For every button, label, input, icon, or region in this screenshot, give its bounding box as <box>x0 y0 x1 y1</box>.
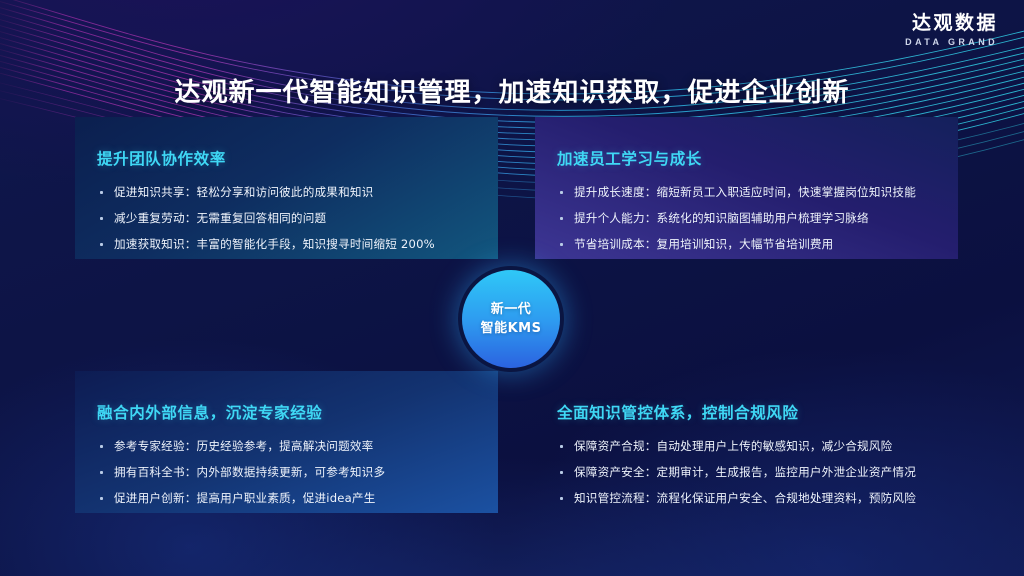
list-item: 加速获取知识：丰富的智能化手段，知识搜寻时间缩短 200% <box>97 237 480 252</box>
center-badge-line1: 新一代 <box>491 300 532 319</box>
card-title: 加速员工学习与成长 <box>557 147 940 169</box>
list-item: 提升个人能力：系统化的知识脑图辅助用户梳理学习脉络 <box>557 211 940 226</box>
list-item: 节省培训成本：复用培训知识，大幅节省培训费用 <box>557 237 940 252</box>
center-badge-line2: 智能KMS <box>481 319 542 338</box>
card-bullet-list: 提升成长速度：缩短新员工入职适应时间，快速掌握岗位知识技能 提升个人能力：系统化… <box>557 185 940 252</box>
card-bullet-list: 促进知识共享：轻松分享和访问彼此的成果和知识 减少重复劳动：无需重复回答相同的问… <box>97 185 480 252</box>
feature-card-team-efficiency: 提升团队协作效率 促进知识共享：轻松分享和访问彼此的成果和知识 减少重复劳动：无… <box>75 117 498 259</box>
card-title: 提升团队协作效率 <box>97 147 480 169</box>
page-title: 达观新一代智能知识管理，加速知识获取，促进企业创新 <box>0 72 1024 109</box>
list-item: 促进知识共享：轻松分享和访问彼此的成果和知识 <box>97 185 480 200</box>
list-item: 保障资产安全：定期审计，生成报告，监控用户外泄企业资产情况 <box>557 465 940 480</box>
brand-logo-cn: 达观数据 <box>905 12 998 34</box>
list-item: 拥有百科全书：内外部数据持续更新，可参考知识多 <box>97 465 480 480</box>
list-item: 减少重复劳动：无需重复回答相同的问题 <box>97 211 480 226</box>
list-item: 提升成长速度：缩短新员工入职适应时间，快速掌握岗位知识技能 <box>557 185 940 200</box>
card-title: 全面知识管控体系，控制合规风险 <box>557 401 940 423</box>
slide-canvas: 达观数据 DATA GRAND 达观新一代智能知识管理，加速知识获取，促进企业创… <box>0 0 1024 576</box>
center-badge: 新一代 智能KMS <box>462 270 560 368</box>
feature-card-compliance-control: 全面知识管控体系，控制合规风险 保障资产合规：自动处理用户上传的敏感知识，减少合… <box>535 371 958 513</box>
feature-card-expert-knowledge: 融合内外部信息，沉淀专家经验 参考专家经验：历史经验参考，提高解决问题效率 拥有… <box>75 371 498 513</box>
list-item: 知识管控流程：流程化保证用户安全、合规地处理资料，预防风险 <box>557 491 940 506</box>
card-bullet-list: 保障资产合规：自动处理用户上传的敏感知识，减少合规风险 保障资产安全：定期审计，… <box>557 439 940 506</box>
list-item: 参考专家经验：历史经验参考，提高解决问题效率 <box>97 439 480 454</box>
brand-logo-en: DATA GRAND <box>905 37 998 47</box>
list-item: 保障资产合规：自动处理用户上传的敏感知识，减少合规风险 <box>557 439 940 454</box>
card-bullet-list: 参考专家经验：历史经验参考，提高解决问题效率 拥有百科全书：内外部数据持续更新，… <box>97 439 480 506</box>
brand-logo: 达观数据 DATA GRAND <box>905 12 998 47</box>
list-item: 促进用户创新：提高用户职业素质，促进idea产生 <box>97 491 480 506</box>
card-title: 融合内外部信息，沉淀专家经验 <box>97 401 480 423</box>
feature-card-employee-growth: 加速员工学习与成长 提升成长速度：缩短新员工入职适应时间，快速掌握岗位知识技能 … <box>535 117 958 259</box>
